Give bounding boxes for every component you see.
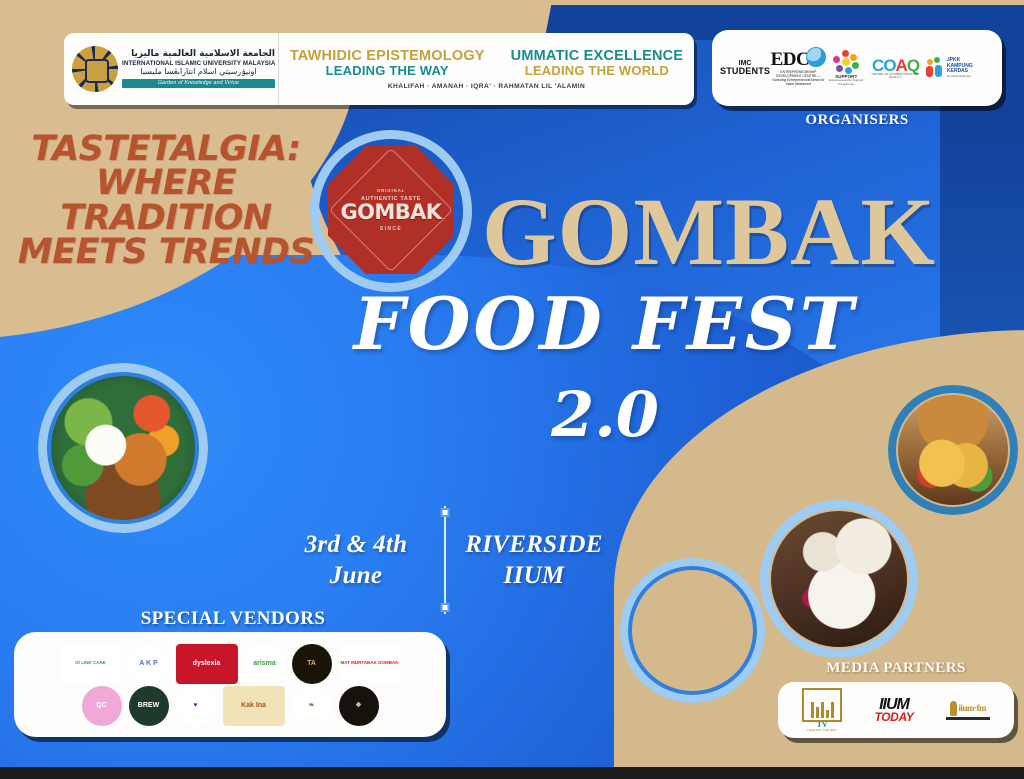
iium-fm-underbar xyxy=(946,717,990,720)
event-date: 3rd & 4th June xyxy=(275,529,437,592)
iium-arabic-name: الجامعة الاسلامية العالمية ماليزيا xyxy=(122,50,275,59)
coaq-subtitle: CENTRE OF ACCREDITATION AND QUALITY xyxy=(866,74,926,79)
tagline-line-2: WHERE xyxy=(16,166,316,200)
vendor-logo: arisma xyxy=(245,644,285,684)
globe-icon xyxy=(806,47,826,67)
media-partners-label: MEDIA PARTNERS xyxy=(780,660,1012,677)
organiser-logo-coaq: COAQ CENTRE OF ACCREDITATION AND QUALITY xyxy=(866,57,926,79)
vendor-logo: QC xyxy=(82,686,122,726)
food-photo-dessert-ring xyxy=(760,500,918,658)
media-partner-iium-today: IIUM TODAY xyxy=(875,697,914,723)
event-venue: RIVERSIDE IIUM xyxy=(453,529,615,592)
vendor-logo: MAT MURTABAK GOMBAK xyxy=(339,644,401,684)
jpkk-text: JPKK KAMPUNG KERDAS Gombak Selangor xyxy=(947,58,994,78)
vendor-logo: Kak Ina xyxy=(223,686,285,726)
gombak-badge-logo: ORIGINAL AUTHENTIC TASTE GOMBAK SINCE xyxy=(310,130,472,292)
page-title-version: 2.0 xyxy=(335,378,875,451)
tagline-line-1: TASTETALGIA: xyxy=(16,132,316,166)
iium-tagline: Garden of Knowledge and Virtue xyxy=(122,79,275,88)
bottom-edge-strip xyxy=(0,767,1024,779)
vendor-row-1: IO LINK CAREA K PdyslexiaarismaTAMAT MUR… xyxy=(24,644,436,684)
selection-handle-top[interactable] xyxy=(441,508,450,517)
media-partners-panel: TV LEADING THE WAY IIUM TODAY iium·fm xyxy=(778,682,1014,738)
iium-tv-sub: LEADING THE WAY xyxy=(807,730,837,733)
top-edge-strip xyxy=(0,0,1024,5)
jpkk-sub: Gombak Selangor xyxy=(947,75,994,78)
special-vendors-label: SPECIAL VENDORS xyxy=(18,608,448,630)
page-title-gombak: GOMBAK xyxy=(482,188,936,276)
organisers-label: ORGANISERS xyxy=(712,112,1002,129)
people-burst-icon xyxy=(833,50,859,74)
media-partner-iium-tv: TV LEADING THE WAY xyxy=(802,688,842,733)
event-venue-line1: RIVERSIDE xyxy=(453,529,615,560)
event-tagline: TASTETALGIA: WHERE TRADITION MEETS TREND… xyxy=(16,132,316,269)
event-venue-line2: IIUM xyxy=(453,560,615,591)
food-photo-murtabak-ring xyxy=(620,558,765,703)
iium-fm-label: iium·fm xyxy=(959,704,987,713)
iium-values-line: KHALIFAH · AMANAH · IQRA' · RAHMATAN LIL… xyxy=(388,83,585,90)
slogan-left-line1: TAWHIDIC EPISTEMOLOGY xyxy=(290,48,485,64)
event-date-line2: June xyxy=(275,560,437,591)
vendor-logo: ❧ xyxy=(292,686,332,726)
vendor-logo: ♥ xyxy=(176,686,216,726)
iium-today-line2: TODAY xyxy=(875,711,914,723)
slogan-right-line1: UMMATIC EXCELLENCE xyxy=(511,48,684,64)
event-date-line1: 3rd & 4th xyxy=(275,529,437,560)
edc-subtitle: ENTREPRENEURSHIP DEVELOPMENT CENTRE — Nu… xyxy=(770,70,827,87)
details-divider[interactable] xyxy=(437,525,453,595)
vendor-logo: dyslexia xyxy=(176,644,238,684)
slogan-left-line2: LEADING THE WAY xyxy=(290,64,485,79)
vendor-logo: IO LINK CARE xyxy=(60,644,122,684)
support-subtitle: Entrepreneurship Support Programme xyxy=(827,79,866,86)
slogan-right-line2: LEADING THE WORLD xyxy=(511,64,684,79)
food-photo-murtabak xyxy=(620,558,765,703)
jpkk-line2: KAMPUNG KERDAS xyxy=(947,64,994,75)
vendor-logo: TA xyxy=(292,644,332,684)
food-photo-dessert xyxy=(760,500,918,658)
slogan-left: TAWHIDIC EPISTEMOLOGY LEADING THE WAY xyxy=(290,48,485,79)
coaq-wordmark: COAQ xyxy=(872,57,919,74)
organiser-logo-edc: EDC ENTREPRENEURSHIP DEVELOPMENT CENTRE … xyxy=(770,50,827,87)
iium-jawi-name: اونيۏرسيتي اسلام انتارابڠسا مليسيا xyxy=(122,68,275,76)
edc-wordmark: EDC xyxy=(771,50,810,69)
iium-slogan-block: TAWHIDIC EPISTEMOLOGY LEADING THE WAY UM… xyxy=(279,33,694,105)
organiser-logo-jpkk: JPKK KAMPUNG KERDAS Gombak Selangor xyxy=(925,57,994,79)
food-photo-tacos xyxy=(888,385,1018,515)
page-title-food-fest: FOOD FEST xyxy=(335,290,875,358)
slogan-right: UMMATIC EXCELLENCE LEADING THE WORLD xyxy=(511,48,684,79)
special-vendors-panel: IO LINK CAREA K PdyslexiaarismaTAMAT MUR… xyxy=(14,632,446,737)
iium-tv-label: TV xyxy=(817,721,828,729)
tagline-line-4: MEETS TRENDS xyxy=(16,235,316,269)
vendor-logo: BREW xyxy=(129,686,169,726)
microphone-icon xyxy=(950,701,957,716)
iium-tv-icon xyxy=(802,688,842,722)
tagline-line-3: TRADITION xyxy=(16,201,316,235)
vendor-row-2: QCBREW♥Kak Ina❧❖ xyxy=(24,686,436,726)
food-photo-tacos-ring xyxy=(888,385,1018,515)
people-icon xyxy=(925,57,944,79)
iium-identity-block: الجامعة الاسلامية العالمية ماليزيا INTER… xyxy=(64,33,279,105)
badge-outer-ring xyxy=(310,130,472,292)
imc-line2: STUDENTS xyxy=(720,67,770,76)
food-photo-rice xyxy=(38,363,208,533)
divider-line xyxy=(444,506,446,614)
iium-english-name: INTERNATIONAL ISLAMIC UNIVERSITY MALAYSI… xyxy=(122,61,275,68)
media-partner-iium-fm: iium·fm xyxy=(946,701,990,720)
organisers-logo-panel: IMC STUDENTS EDC ENTREPRENEURSHIP DEVELO… xyxy=(712,30,1002,106)
organiser-logo-imc-students: IMC STUDENTS xyxy=(720,60,770,76)
event-details-row: 3rd & 4th June RIVERSIDE IIUM xyxy=(275,525,615,595)
iium-name-block: الجامعة الاسلامية العالمية ماليزيا INTER… xyxy=(122,50,278,88)
poster-canvas: الجامعة الاسلامية العالمية ماليزيا INTER… xyxy=(0,0,1024,779)
iium-header-banner: الجامعة الاسلامية العالمية ماليزيا INTER… xyxy=(64,33,694,105)
iium-crest-icon xyxy=(72,46,118,92)
organiser-logo-support: SUPPORT Entrepreneurship Support Program… xyxy=(827,50,866,87)
vendor-logo: ❖ xyxy=(339,686,379,726)
food-photo-rice-ring xyxy=(38,363,208,533)
vendor-logo: A K P xyxy=(129,644,169,684)
